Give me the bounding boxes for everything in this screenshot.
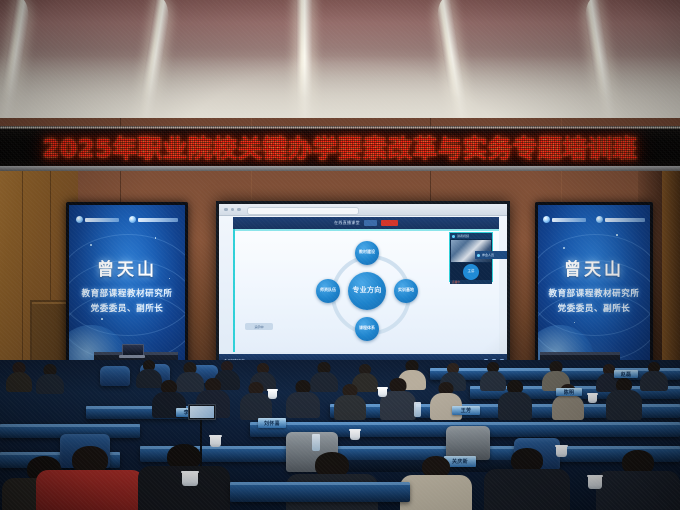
- address-bar[interactable]: [247, 207, 359, 215]
- led-frame: [0, 126, 680, 129]
- affiliation-line-1: 教育部课程教材研究所: [538, 286, 650, 301]
- audience-member-red-coat: [36, 446, 144, 510]
- participants-chip[interactable]: 参会人员: [475, 251, 507, 259]
- presenter-badge: 主讲: [463, 264, 479, 280]
- video-lower-pane: 主讲: [451, 263, 491, 280]
- slide-canvas: 专业方向 教材建设 实训基地 课程体系 师资队伍 讲者视频 主讲: [233, 229, 499, 352]
- audience-member: [400, 456, 472, 510]
- affiliation-line-1: 教育部课程教材研究所: [69, 286, 185, 301]
- screen-logos-right: [538, 216, 650, 223]
- video-tile-header: 讲者视频: [450, 233, 492, 239]
- window-controls-icon[interactable]: [224, 208, 241, 212]
- meeting-app-title: 在线直播课堂: [334, 220, 360, 226]
- browser-chrome: [219, 204, 507, 216]
- affiliation-line-2: 党委委员、副所长: [538, 301, 650, 316]
- audience-member: [498, 380, 532, 418]
- audience-member: [240, 382, 272, 418]
- teacup: [378, 388, 387, 397]
- participants-chip-label: 参会人员: [482, 253, 494, 257]
- placard-name: 刘怀喜: [264, 420, 280, 427]
- diagram-node-center: 专业方向: [348, 272, 386, 310]
- seat: [100, 366, 130, 386]
- audience-member: [380, 378, 416, 418]
- name-placard: 陈明: [556, 388, 582, 396]
- diagram-node-left: 师资队伍: [316, 279, 340, 303]
- wall-wood-right: [662, 150, 680, 390]
- affiliation-line-2: 党委委员、副所长: [69, 301, 185, 316]
- institute-logo-icon: [543, 216, 586, 223]
- ceiling-haze: [0, 56, 680, 126]
- audience-member: [334, 384, 366, 418]
- video-tile-footer: 直播中: [450, 280, 492, 284]
- audience-member: [606, 378, 642, 418]
- speaker-name-left: 曾天山: [69, 255, 185, 280]
- laptop-base: [119, 355, 145, 358]
- audience-member: [596, 450, 680, 510]
- audience-member: [286, 380, 320, 416]
- meeting-app-toolbar: 在线直播课堂: [233, 217, 499, 229]
- ceiling: [0, 0, 680, 126]
- audience-member: [640, 362, 668, 390]
- live-status-badge: 直播中: [452, 280, 460, 284]
- screen-logos-left: [69, 216, 185, 223]
- concept-diagram: 专业方向 教材建设 实训基地 课程体系 师资队伍: [319, 243, 415, 339]
- led-banner-text: 2025年职业院校关键办学要素改革与实务专题培训班: [42, 130, 637, 165]
- teacup: [588, 476, 602, 489]
- organizer-logo-icon: [596, 216, 645, 223]
- desk-row-front: [230, 482, 410, 502]
- conference-hall-photo: 2025年职业院校关键办学要素改革与实务专题培训班 曾天山 教育部课程教材研究所…: [0, 0, 680, 510]
- teacup: [182, 472, 198, 486]
- name-placard: 赵磊: [614, 370, 638, 378]
- user-icon: [452, 235, 455, 238]
- placard-name: 王芳: [461, 407, 472, 414]
- teacup: [350, 430, 360, 440]
- organizer-logo-icon: [129, 216, 178, 223]
- display-screen-right: 曾天山 教育部课程教材研究所 党委委员、副所长: [535, 202, 653, 370]
- teacup: [268, 390, 277, 399]
- video-tile-label: 讲者视频: [457, 234, 469, 238]
- institute-logo-icon: [76, 216, 119, 223]
- water-bottle: [414, 402, 421, 417]
- teacup: [588, 394, 597, 403]
- diagram-node-right: 实训基地: [394, 279, 418, 303]
- name-placard: 王芳: [452, 406, 480, 415]
- people-icon: [477, 254, 480, 257]
- audience-member: [6, 362, 32, 390]
- smartphone-on-tripod: [188, 404, 216, 420]
- audience-member: [484, 448, 570, 510]
- audience-floor: 李华 王芳 陈明 赵磊 刘怀喜 关庆新: [0, 360, 680, 510]
- diagram-node-bottom: 课程体系: [355, 317, 379, 341]
- projection-screen-center: 在线直播课堂 专业方向 教材建设 实训基地 课程体系 师资队伍: [216, 201, 510, 371]
- speaker-name-right: 曾天山: [538, 255, 650, 280]
- placard-name: 陈明: [564, 389, 575, 396]
- end-meeting-button[interactable]: [381, 220, 398, 226]
- presenting-indicator-label: 演示中: [254, 325, 263, 329]
- settings-button[interactable]: [364, 220, 377, 226]
- name-placard: 刘怀喜: [258, 418, 286, 428]
- presenting-indicator: 演示中: [245, 323, 273, 330]
- speaker-affiliation-left: 教育部课程教材研究所 党委委员、副所长: [69, 286, 185, 316]
- placard-name: 赵磊: [621, 371, 632, 378]
- water-bottle: [312, 434, 320, 451]
- speaker-affiliation-right: 教育部课程教材研究所 党委委员、副所长: [538, 286, 650, 316]
- audience-member: [36, 364, 64, 392]
- diagram-node-top: 教材建设: [355, 241, 379, 265]
- led-banner: 2025年职业院校关键办学要素改革与实务专题培训班: [0, 126, 680, 171]
